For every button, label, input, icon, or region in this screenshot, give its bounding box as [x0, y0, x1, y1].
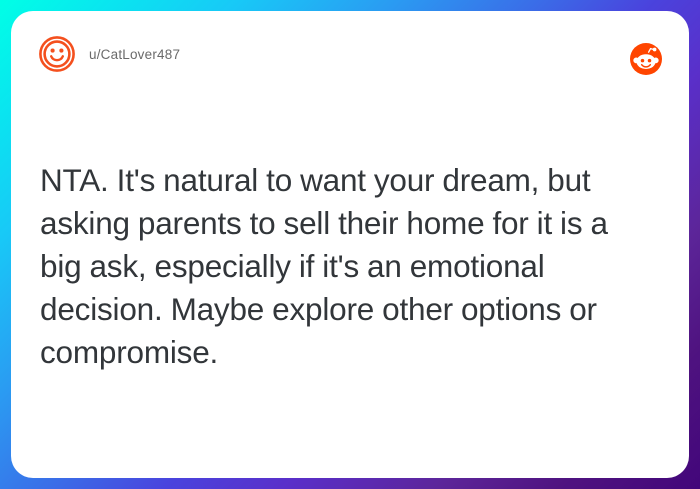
- reddit-snoo-icon[interactable]: [630, 43, 662, 75]
- author-block[interactable]: u/CatLover487: [38, 35, 180, 73]
- smiley-face-icon: [38, 35, 76, 73]
- reddit-comment-card: u/CatLover487 NTA. It's natural to want …: [11, 11, 689, 478]
- comment-text: NTA. It's natural to want your dream, bu…: [40, 159, 640, 374]
- gradient-background: u/CatLover487 NTA. It's natural to want …: [0, 0, 700, 489]
- card-header: u/CatLover487: [11, 11, 689, 97]
- author-username: u/CatLover487: [89, 47, 180, 62]
